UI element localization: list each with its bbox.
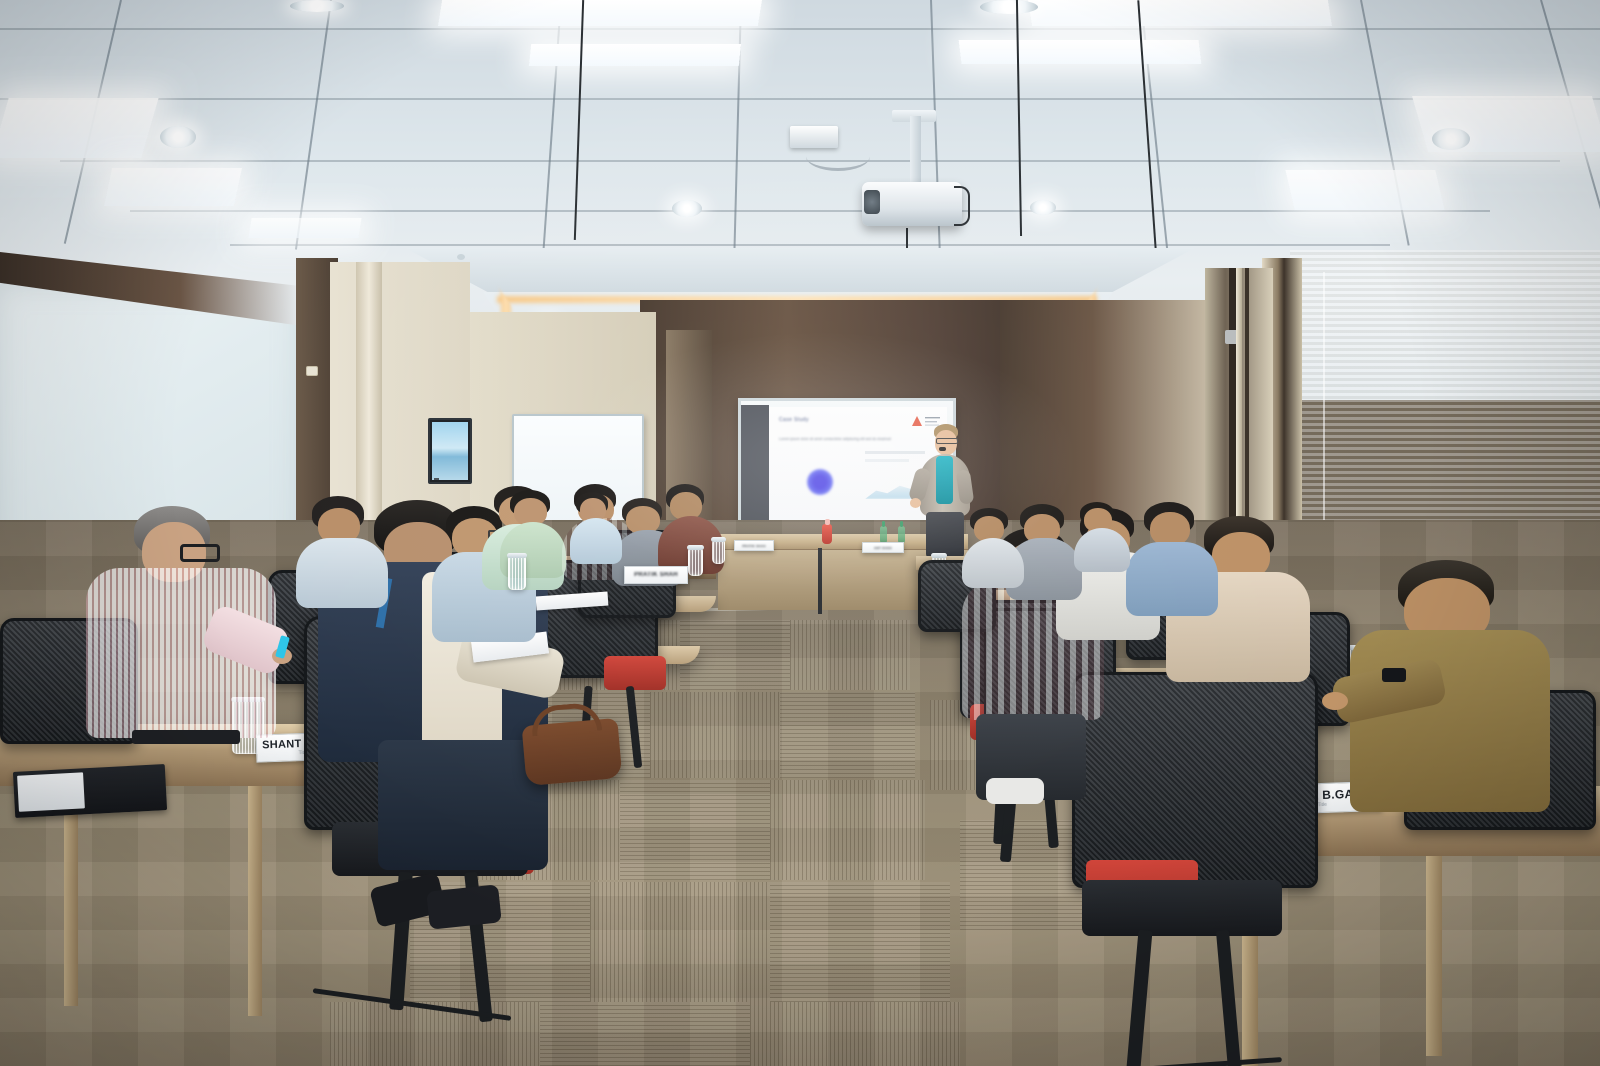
projector-lens [864,190,880,214]
attendee-vest-lap [378,740,548,870]
slide-dark-band [741,405,769,521]
attendee-grey-left [296,496,392,596]
projector-mount-pole [910,116,921,182]
table-left-front-leg [64,786,78,1006]
presenter-shirt [936,456,953,504]
presenter-glasses [936,438,958,444]
table-left-front-leg-2 [248,786,262,1016]
table-right-front-leg-2 [1426,856,1442,1056]
placard-front-1: PRATIK SHAH [734,540,774,551]
attendee-front-left [86,506,286,746]
presenter-microphone [939,447,946,451]
slide-graphic-blob [807,469,833,495]
wristwatch [1382,668,1406,682]
monitor-screen-image [432,422,468,480]
attendee-belt [132,730,240,744]
presenter-trousers [926,512,964,558]
attendee-olive-hand [1322,692,1348,710]
attendee-olive [1350,560,1560,820]
water-glass-row4[interactable] [712,540,725,564]
conference-room-photo: Case Study Lorem ipsum dolor sit amet co… [0,0,1600,1066]
attendee-olive-shirt [1350,630,1550,812]
attendee-right-far-2 [1074,502,1134,562]
water-glass-row3[interactable] [688,548,703,576]
attendee-right-far [962,508,1028,578]
wall-monitor[interactable] [428,418,472,484]
red-bottle[interactable] [822,524,832,544]
water-glass-row2[interactable] [508,556,526,590]
attendee-glasses [180,544,220,562]
slide-title: Case Study [779,417,809,423]
notebook[interactable] [13,764,167,818]
projector-cable [806,142,870,171]
placard-front-2: ANT DASH [862,542,904,553]
attendee-shoe-2 [426,884,502,929]
attendee-lightblue [570,492,626,554]
presenter-table-leg [818,548,822,614]
presenter-hand [910,498,921,508]
attendee-shoe-white [986,778,1044,804]
ceiling-projector[interactable] [862,168,967,230]
laptop-bag[interactable] [522,718,623,786]
placard-pratik-shah: PRATIK SHAH [624,566,688,584]
attendee-blue-right [1126,502,1222,606]
slide-bullets: Lorem ipsum dolor sit amet consectetur a… [779,437,899,442]
wall-socket[interactable] [306,366,318,376]
